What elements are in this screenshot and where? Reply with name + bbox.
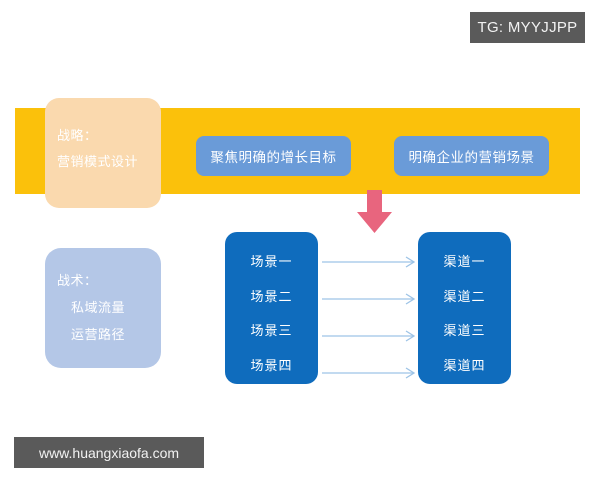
- scenario-item-4[interactable]: 场景四: [250, 358, 292, 376]
- strategy-pill-growth-goal[interactable]: 聚焦明确的增长目标: [196, 136, 351, 176]
- strategy-label-box: 战略： 营销模式设计: [45, 98, 161, 208]
- tactics-label-box: 战术： 私域流量 运营路径: [45, 248, 161, 368]
- channel-item-3[interactable]: 渠道三: [443, 323, 485, 341]
- strategy-title: 战略：: [57, 124, 161, 150]
- scenarios-column: 场景一 场景二 场景三 场景四: [225, 232, 318, 384]
- tactics-title: 战术：: [57, 268, 161, 295]
- scenario-item-2[interactable]: 场景二: [250, 289, 292, 307]
- channel-item-1[interactable]: 渠道一: [443, 254, 485, 272]
- site-watermark: www.huangxiaofa.com: [14, 437, 204, 468]
- scenario-item-1[interactable]: 场景一: [250, 254, 292, 272]
- tactics-line-2: 运营路径: [57, 322, 161, 349]
- channels-column: 渠道一 渠道二 渠道三 渠道四: [418, 232, 511, 384]
- channel-item-2[interactable]: 渠道二: [443, 289, 485, 307]
- scenario-item-3[interactable]: 场景三: [250, 323, 292, 341]
- strategy-subtitle: 营销模式设计: [57, 150, 161, 176]
- diagram-canvas: TG: MYYJJPP 聚焦明确的增长目标 明确企业的营销场景 战略： 营销模式…: [0, 0, 600, 480]
- channel-item-4[interactable]: 渠道四: [443, 358, 485, 376]
- strategy-pill-marketing-scene[interactable]: 明确企业的营销场景: [394, 136, 549, 176]
- down-arrow-icon: [356, 190, 393, 233]
- connector-arrow-group: [318, 232, 420, 384]
- tactics-line-1: 私域流量: [57, 295, 161, 322]
- tg-badge: TG: MYYJJPP: [470, 12, 585, 43]
